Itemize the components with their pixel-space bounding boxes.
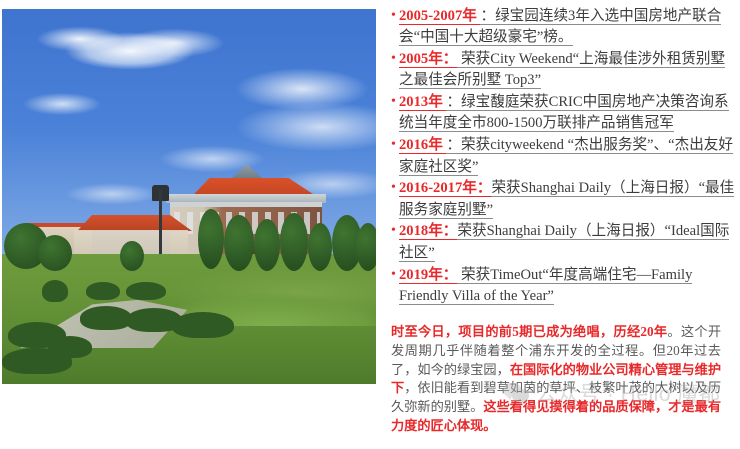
award-body: ：荣获cityweekend “杰出服务奖”、“杰出友好家庭社区奖” — [399, 137, 733, 175]
photo-tree — [224, 215, 254, 271]
photo-tree — [198, 209, 224, 269]
photo-hedge — [2, 348, 72, 374]
photo-cupola — [230, 164, 264, 180]
photo-cornice — [170, 202, 322, 207]
list-item: 2016-2017年：荣获Shanghai Daily（上海日报）“最佳服务家庭… — [391, 178, 736, 221]
photo-sky — [2, 9, 376, 384]
photo-tree — [356, 223, 376, 271]
award-year: 2013年 — [399, 94, 446, 111]
closing-paragraph: 时至今日，项目的前5期已成为绝唱，历经20年。这个开发周期几乎伴随着整个浦东开发… — [391, 323, 721, 435]
photo-tree — [308, 223, 332, 271]
photo-tree — [120, 241, 144, 271]
content-column: 2005-2007年 ：绿宝园连续3年入选中国房地产联合会“中国十大超级豪宅”榜… — [391, 6, 736, 449]
list-item: 2005年： 荣获City Weekend“上海最佳涉外租赁别墅之最佳会所别墅 … — [391, 49, 736, 92]
property-photo — [2, 9, 376, 384]
award-year: 2005-2007年 — [399, 8, 480, 25]
photo-hedge — [126, 282, 166, 300]
award-year: 2018年： — [399, 223, 457, 240]
list-item: 2013年 ：绿宝馥庭荣获CRIC中国房地产决策咨询系统当年度全市800-150… — [391, 92, 736, 135]
photo-pavilion-roof — [70, 215, 192, 231]
photo-hedge — [80, 306, 132, 330]
awards-list: 2005-2007年 ：绿宝园连续3年入选中国房地产联合会“中国十大超级豪宅”榜… — [391, 6, 736, 307]
award-year: 2019年： — [399, 267, 457, 284]
paragraph-highlight-1: 时至今日，项目的前5期已成为绝唱，历经20年 — [391, 324, 667, 339]
photo-hedge — [172, 312, 234, 338]
photo-tree — [280, 213, 308, 271]
award-year: 2005年： — [399, 51, 457, 68]
slide-canvas: 2005-2007年 ：绿宝园连续3年入选中国房地产联合会“中国十大超级豪宅”榜… — [0, 0, 740, 417]
photo-tree — [254, 219, 280, 271]
photo-tree — [38, 235, 72, 271]
award-year: 2016年 — [399, 137, 446, 154]
list-item: 2005-2007年 ：绿宝园连续3年入选中国房地产联合会“中国十大超级豪宅”榜… — [391, 6, 736, 49]
list-item: 2018年：荣获Shanghai Daily（上海日报）“Ideal国际社区” — [391, 221, 736, 264]
photo-hedge — [42, 280, 68, 302]
award-body: ：绿宝馥庭荣获CRIC中国房地产决策咨询系统当年度全市800-1500万联排产品… — [399, 94, 729, 132]
list-item: 2016年 ：荣获cityweekend “杰出服务奖”、“杰出友好家庭社区奖” — [391, 135, 736, 178]
award-year: 2016-2017年： — [399, 180, 491, 197]
photo-hedge — [86, 282, 120, 300]
list-item: 2019年： 荣获TimeOut“年度高端住宅—Family Friendly … — [391, 265, 736, 308]
